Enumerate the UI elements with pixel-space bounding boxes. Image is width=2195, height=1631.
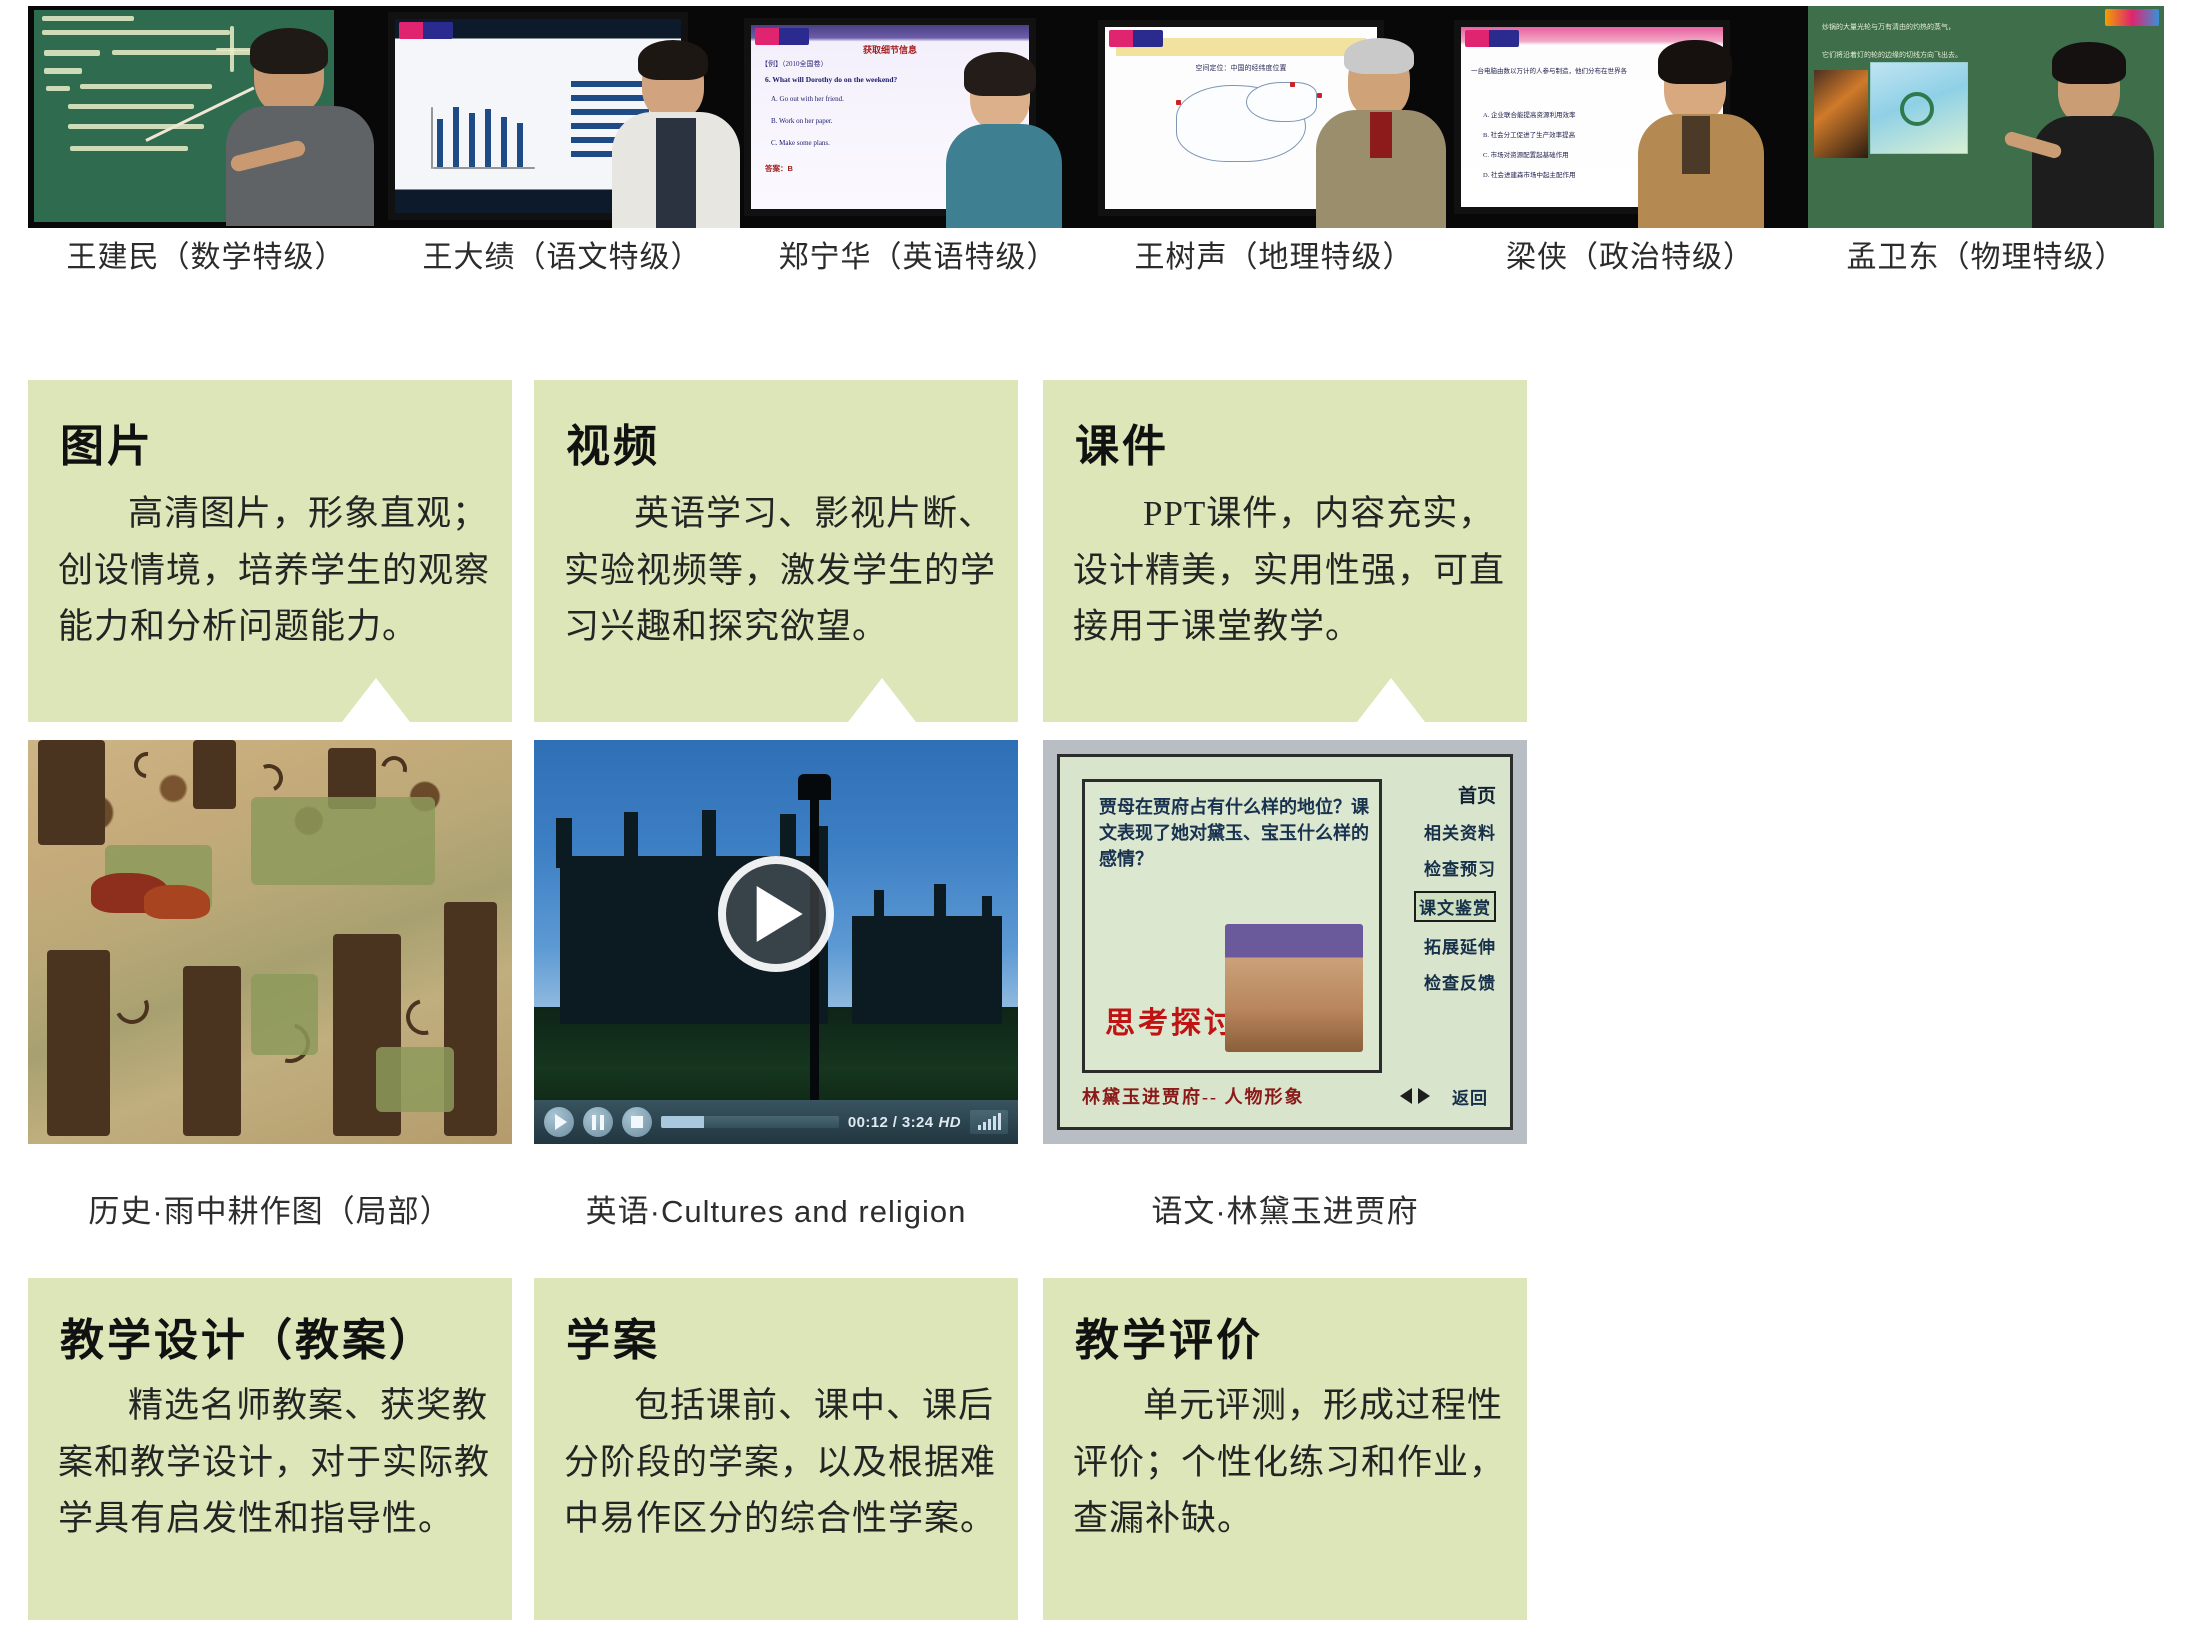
video-progress-fill [661,1116,704,1128]
info-card-video-title: 视频 [566,410,660,474]
ppt-slide: 贾母在贾府占有什么样的地位？课文表现了她对黛玉、宝玉什么样的感情？ 思考探讨 首… [1043,740,1527,1144]
physics-line-1: 炒锅的大量光轮与万有清由的灼热的蒸气， [1822,20,2104,34]
info-card-images-body: 高清图片，形象直观；创设情境，培养学生的观察能力和分析问题能力。 [58,486,490,656]
ppt-nav-item-2[interactable]: 课文鉴赏 [1414,891,1496,922]
teacher-gallery: 获取细节信息 【例】（2010全国卷） 6. What will Dorothy… [28,6,2168,228]
chevron-right-icon[interactable] [1418,1088,1430,1104]
ppt-character-portrait [1225,924,1363,1052]
classroom-scene-barchart [384,6,740,228]
info-card-study-plan-body: 包括课前、课中、课后分阶段的学案，以及根据难中易作区分的综合性学案。 [564,1378,996,1548]
teacher-name-5: 孟卫东（物理特级） [1808,232,2164,276]
card-pointer-notch [342,678,410,722]
classroom-scene-english: 获取细节信息 【例】（2010全国卷） 6. What will Dorothy… [740,6,1096,228]
play-icon [555,1114,567,1130]
media-caption-image: 历史·雨中耕作图（局部） [28,1186,512,1231]
info-card-courseware-body: PPT课件，内容充实，设计精美，实用性强，可直接用于课堂教学。 [1073,486,1505,656]
ppt-footer-title: 林黛玉进贾府-- 人物形象 [1082,1083,1305,1109]
classroom-scene-blackboard [28,6,384,228]
teacher-figure [1630,40,1770,228]
teacher-name-4: 梁侠（政治特级） [1452,232,1808,276]
info-card-evaluation-body: 单元评测，形成过程性评价；个性化练习和作业，查漏补缺。 [1073,1378,1505,1548]
slide-answer: 答案：B [765,163,793,174]
card-pointer-notch [1357,678,1425,722]
teacher-photo-3[interactable]: 空间定位：中国的经纬度位置 [1096,6,1452,228]
slide-source: 【例】（2010全国卷） [761,59,828,69]
teacher-name-1: 王大绩（语文特级） [384,232,740,276]
slide-question: 6. What will Dorothy do on the weekend? [765,75,897,84]
ppt-back-button[interactable]: 返回 [1452,1084,1488,1109]
ppt-question-text: 贾母在贾府占有什么样的地位？课文表现了她对黛玉、宝玉什么样的感情？ [1099,794,1369,872]
video-play-overlay-button[interactable] [718,856,834,972]
slide-politics-option-d: D. 社会进建森市场中起主配作用 [1483,169,1575,179]
play-icon [757,886,803,942]
teacher-name-3: 王树声（地理特级） [1096,232,1452,276]
ppt-nav-item-3[interactable]: 拓展延伸 [1424,933,1496,958]
slide-politics-option-a: A. 企业联合能提高资源利用效率 [1483,109,1575,119]
teacher-photo-2[interactable]: 获取细节信息 【例】（2010全国卷） 6. What will Dorothy… [740,6,1096,228]
ppt-nav-item-4[interactable]: 检查反馈 [1424,969,1496,994]
info-card-lesson-design-title: 教学设计（教案） [60,1304,436,1368]
ppt-highlight-text: 思考探讨 [1105,998,1237,1042]
info-card-courseware-title: 课件 [1075,410,1169,474]
teacher-figure [2032,42,2154,228]
video-progress-slider[interactable] [661,1116,839,1128]
slide-option-c: C. Make some plans. [771,139,830,147]
channel-logo-icon [1465,30,1519,47]
ppt-content-area: 贾母在贾府占有什么样的地位？课文表现了她对黛玉、宝玉什么样的感情？ 思考探讨 [1082,779,1382,1073]
ppt-nav-item-0[interactable]: 相关资料 [1424,819,1496,844]
info-card-courseware[interactable]: 课件 PPT课件，内容充实，设计精美，实用性强，可直接用于课堂教学。 [1043,380,1527,722]
ppt-footer: 林黛玉进贾府-- 人物形象 返回 [1082,1079,1488,1113]
teacher-photo-0[interactable] [28,6,384,228]
info-card-lesson-design-body: 精选名师教案、获奖教案和教学设计，对于实际教学具有启发性和指导性。 [58,1378,490,1548]
slide-politics-option-b: B. 社会分工促进了生产效率提高 [1483,129,1575,139]
classroom-scene-physics: 炒锅的大量光轮与万有清由的灼热的蒸气， 它们将沿着灯的轮的边缘的切线方向飞出去。 [1808,6,2164,228]
teacher-photo-5[interactable]: 炒锅的大量光轮与万有清由的灼热的蒸气， 它们将沿着灯的轮的边缘的切线方向飞出去。 [1808,6,2164,228]
info-card-evaluation-title: 教学评价 [1075,1304,1263,1368]
teacher-name-2: 郑宁华（英语特级） [740,232,1096,276]
slide-option-b: B. Work on her paper. [771,117,833,125]
ppt-pager[interactable]: 返回 [1400,1084,1488,1109]
info-card-video[interactable]: 视频 英语学习、影视片断、实验视频等，激发学生的学习兴趣和探究欲望。 [534,380,1018,722]
ppt-navigation-menu[interactable]: 首页 相关资料 检查预习 课文鉴赏 拓展延伸 检查反馈 [1392,781,1496,994]
info-card-images[interactable]: 图片 高清图片，形象直观；创设情境，培养学生的观察能力和分析问题能力。 [28,380,512,722]
slide-politics-option-c: C. 市场对资源配置起基础作用 [1483,149,1569,159]
video-time-text: 00:12 / 3:24 [848,1114,934,1131]
info-card-video-body: 英语学习、影视片断、实验视频等，激发学生的学习兴趣和探究欲望。 [564,486,996,656]
teacher-photo-1[interactable] [384,6,740,228]
channel-logo-icon [755,28,809,45]
teacher-name-0: 王建民（数学特级） [28,232,384,276]
video-play-button[interactable] [544,1107,574,1137]
video-time-display: 00:12 / 3:24HD [848,1114,961,1131]
ppt-frame: 贾母在贾府占有什么样的地位？课文表现了她对黛玉、宝玉什么样的感情？ 思考探讨 首… [1057,754,1513,1130]
video-quality-badge: HD [939,1114,961,1131]
channel-logo-icon [2105,9,2159,26]
channel-logo-icon [1109,30,1163,47]
media-caption-video: 英语·Cultures and religion [534,1186,1018,1231]
slide-option-a: A. Go out with her friend. [771,95,844,103]
video-pause-button[interactable] [583,1107,613,1137]
media-tile-video[interactable]: 00:12 / 3:24HD [534,740,1018,1144]
teacher-figure [224,28,374,224]
classroom-scene-politics: 一台电脑由数以万计的人参与制造，他们分布在世界各 A. 企业联合能提高资源利用效… [1452,6,1808,228]
info-card-study-plan[interactable]: 学案 包括课前、课中、课后分阶段的学案，以及根据难中易作区分的综合性学案。 [534,1278,1018,1620]
card-pointer-notch [848,678,916,722]
chevron-left-icon[interactable] [1400,1088,1412,1104]
volume-icon[interactable] [970,1110,1008,1134]
teacher-caption-row: 王建民（数学特级） 王大绩（语文特级） 郑宁华（英语特级） 王树声（地理特级） … [28,232,2168,276]
pause-icon [592,1115,604,1130]
info-card-study-plan-title: 学案 [566,1304,660,1368]
teacher-photo-4[interactable]: 一台电脑由数以万计的人参与制造，他们分布在世界各 A. 企业联合能提高资源利用效… [1452,6,1808,228]
ppt-nav-item-1[interactable]: 检查预习 [1424,855,1496,880]
channel-logo-icon [399,22,453,39]
video-control-bar[interactable]: 00:12 / 3:24HD [534,1100,1018,1144]
stop-icon [631,1116,643,1128]
info-card-evaluation[interactable]: 教学评价 单元评测，形成过程性评价；个性化练习和作业，查漏补缺。 [1043,1278,1527,1620]
teacher-figure [1316,38,1446,228]
classroom-scene-map: 空间定位：中国的经纬度位置 [1096,6,1452,228]
history-painting-image [28,740,512,1144]
media-tile-courseware[interactable]: 贾母在贾府占有什么样的地位？课文表现了她对黛玉、宝玉什么样的感情？ 思考探讨 首… [1043,740,1527,1144]
teacher-figure [612,38,740,228]
teacher-figure [940,52,1066,228]
video-stop-button[interactable] [622,1107,652,1137]
media-caption-courseware: 语文·林黛玉进贾府 [1043,1186,1527,1231]
info-card-images-title: 图片 [60,410,154,474]
info-card-lesson-design[interactable]: 教学设计（教案） 精选名师教案、获奖教案和教学设计，对于实际教学具有启发性和指导… [28,1278,512,1620]
ppt-nav-home[interactable]: 首页 [1458,781,1496,808]
page-root: 获取细节信息 【例】（2010全国卷） 6. What will Dorothy… [0,0,2195,1631]
media-tile-image[interactable] [28,740,512,1144]
